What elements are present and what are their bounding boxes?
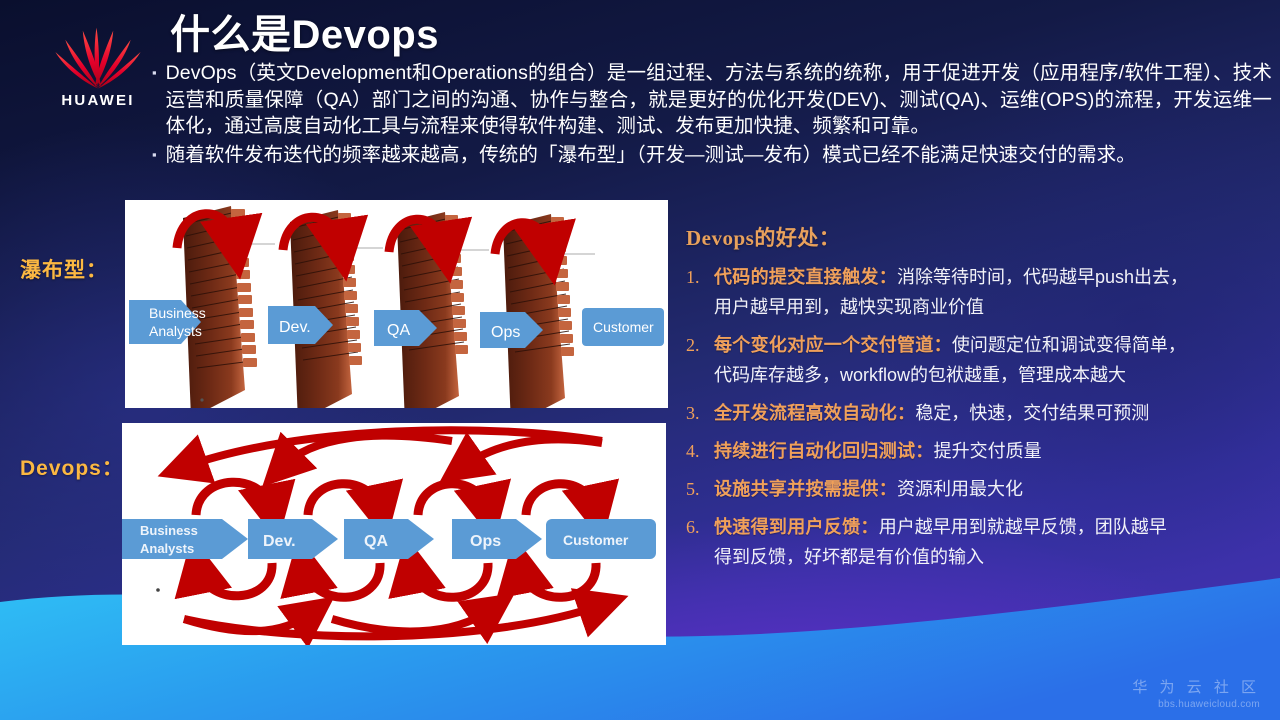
benefit-rest: 资源利用最大化 — [897, 479, 1023, 499]
diagram-waterfall-panel: Business Analysts Dev. QA Ops Cust — [125, 200, 668, 408]
benefit-item: 1. 代码的提交直接触发：消除等待时间，代码越早push出去， 用户越早用到，越… — [686, 262, 1266, 322]
benefit-rest: 使问题定位和调试变得简单， — [952, 335, 1186, 355]
label-devops: Devops： — [20, 452, 124, 482]
svg-text:QA: QA — [387, 322, 410, 339]
svg-text:Analysts: Analysts — [140, 541, 194, 556]
benefit-key: 全开发流程高效自动化： — [714, 403, 915, 423]
slide-root: HUAWEI 什么是Devops ▪ DevOps（英文Development和… — [0, 0, 1280, 720]
stage-dev: Dev. — [248, 519, 338, 559]
benefit-rest: 提升交付质量 — [934, 441, 1042, 461]
benefit-item: 5. 设施共享并按需提供：资源利用最大化 — [686, 474, 1266, 504]
svg-text:QA: QA — [364, 533, 388, 550]
stage-customer: Customer — [582, 308, 664, 346]
svg-text:Customer: Customer — [563, 532, 629, 548]
header-bullet-1-text: DevOps（英文Development和Operations的组合）是一组过程… — [166, 60, 1272, 140]
benefit-number: 5. — [686, 474, 714, 504]
diagram-devops-svg: Business Analysts Dev. QA Ops Cust — [122, 423, 666, 645]
devops-top-loops — [196, 482, 596, 515]
benefit-item: 4. 持续进行自动化回归测试：提升交付质量 — [686, 436, 1266, 466]
benefit-key: 设施共享并按需提供： — [714, 479, 897, 499]
bullet-marker-icon: ▪ — [152, 142, 157, 168]
svg-text:Ops: Ops — [491, 324, 520, 341]
huawei-logo-text: HUAWEI — [61, 92, 134, 109]
benefit-number: 3. — [686, 398, 714, 428]
svg-text:Ops: Ops — [470, 533, 501, 550]
huawei-logo: HUAWEI — [48, 20, 148, 124]
benefit-item: 6. 快速得到用户反馈：用户越早用到就越早反馈，团队越早 得到反馈，好坏都是有价… — [686, 512, 1266, 572]
diagram-devops-panel: Business Analysts Dev. QA Ops Cust — [122, 423, 666, 645]
benefits-section: Devops的好处： 1. 代码的提交直接触发：消除等待时间，代码越早push出… — [686, 222, 1266, 580]
benefit-number: 2. — [686, 330, 714, 360]
huawei-flower-icon — [52, 20, 144, 90]
benefit-number: 1. — [686, 262, 714, 292]
benefit-number: 4. — [686, 436, 714, 466]
benefit-item: 2. 每个变化对应一个交付管道：使问题定位和调试变得简单， 代码库存越多，wor… — [686, 330, 1266, 390]
svg-text:Dev.: Dev. — [279, 319, 311, 336]
waterfall-wall-group — [183, 206, 574, 408]
svg-text:Business: Business — [149, 305, 206, 321]
svg-text:Dev.: Dev. — [263, 533, 296, 550]
label-waterfall: 瀑布型： — [20, 254, 108, 284]
benefit-rest: 消除等待时间，代码越早push出去， — [897, 267, 1188, 287]
header-bullet-2-text: 随着软件发布迭代的频率越来越高，传统的「瀑布型」（开发—测试—发布）模式已经不能… — [166, 142, 1136, 169]
benefit-number: 6. — [686, 512, 714, 542]
benefit-key: 代码的提交直接触发： — [714, 267, 897, 287]
benefit-key: 每个变化对应一个交付管道： — [714, 335, 952, 355]
devops-stages: Business Analysts Dev. QA Ops Cust — [122, 519, 656, 559]
stage-business-analysts: Business Analysts — [129, 300, 206, 344]
benefit-key: 持续进行自动化回归测试： — [714, 441, 934, 461]
devops-bottom-loops — [198, 563, 596, 597]
stage-business-analysts: Business Analysts — [122, 519, 248, 559]
devops-outer-forward-arcs — [184, 605, 602, 636]
svg-text:Business: Business — [140, 523, 198, 538]
svg-text:Customer: Customer — [593, 319, 654, 335]
benefit-continuation: 代码库存越多，workflow的包袱越重，管理成本越大 — [714, 360, 1266, 390]
stage-ops: Ops — [452, 519, 542, 559]
stage-customer: Customer — [546, 519, 656, 559]
benefit-key: 快速得到用户反馈： — [714, 517, 879, 537]
benefit-continuation: 得到反馈，好坏都是有价值的输入 — [714, 542, 1266, 572]
diagram-waterfall-svg: Business Analysts Dev. QA Ops Cust — [125, 200, 668, 408]
bullet-marker-icon: ▪ — [152, 60, 157, 86]
benefit-rest: 稳定，快速，交付结果可预测 — [915, 403, 1149, 423]
benefits-title: Devops的好处： — [686, 222, 1266, 252]
header-bullet-list: ▪ DevOps（英文Development和Operations的组合）是一组… — [152, 60, 1272, 170]
benefit-item: 3. 全开发流程高效自动化：稳定，快速，交付结果可预测 — [686, 398, 1266, 428]
stage-qa: QA — [344, 519, 434, 559]
benefit-continuation: 用户越早用到，越快实现商业价值 — [714, 292, 1266, 322]
header-bullet-1: ▪ DevOps（英文Development和Operations的组合）是一组… — [152, 60, 1272, 140]
header-bullet-2: ▪ 随着软件发布迭代的频率越来越高，传统的「瀑布型」（开发—测试—发布）模式已经… — [152, 142, 1272, 169]
benefit-rest: 用户越早用到就越早反馈，团队越早 — [879, 517, 1167, 537]
svg-text:Analysts: Analysts — [149, 323, 202, 339]
page-title: 什么是Devops — [170, 10, 439, 60]
devops-outer-feedback-arcs — [184, 430, 602, 467]
